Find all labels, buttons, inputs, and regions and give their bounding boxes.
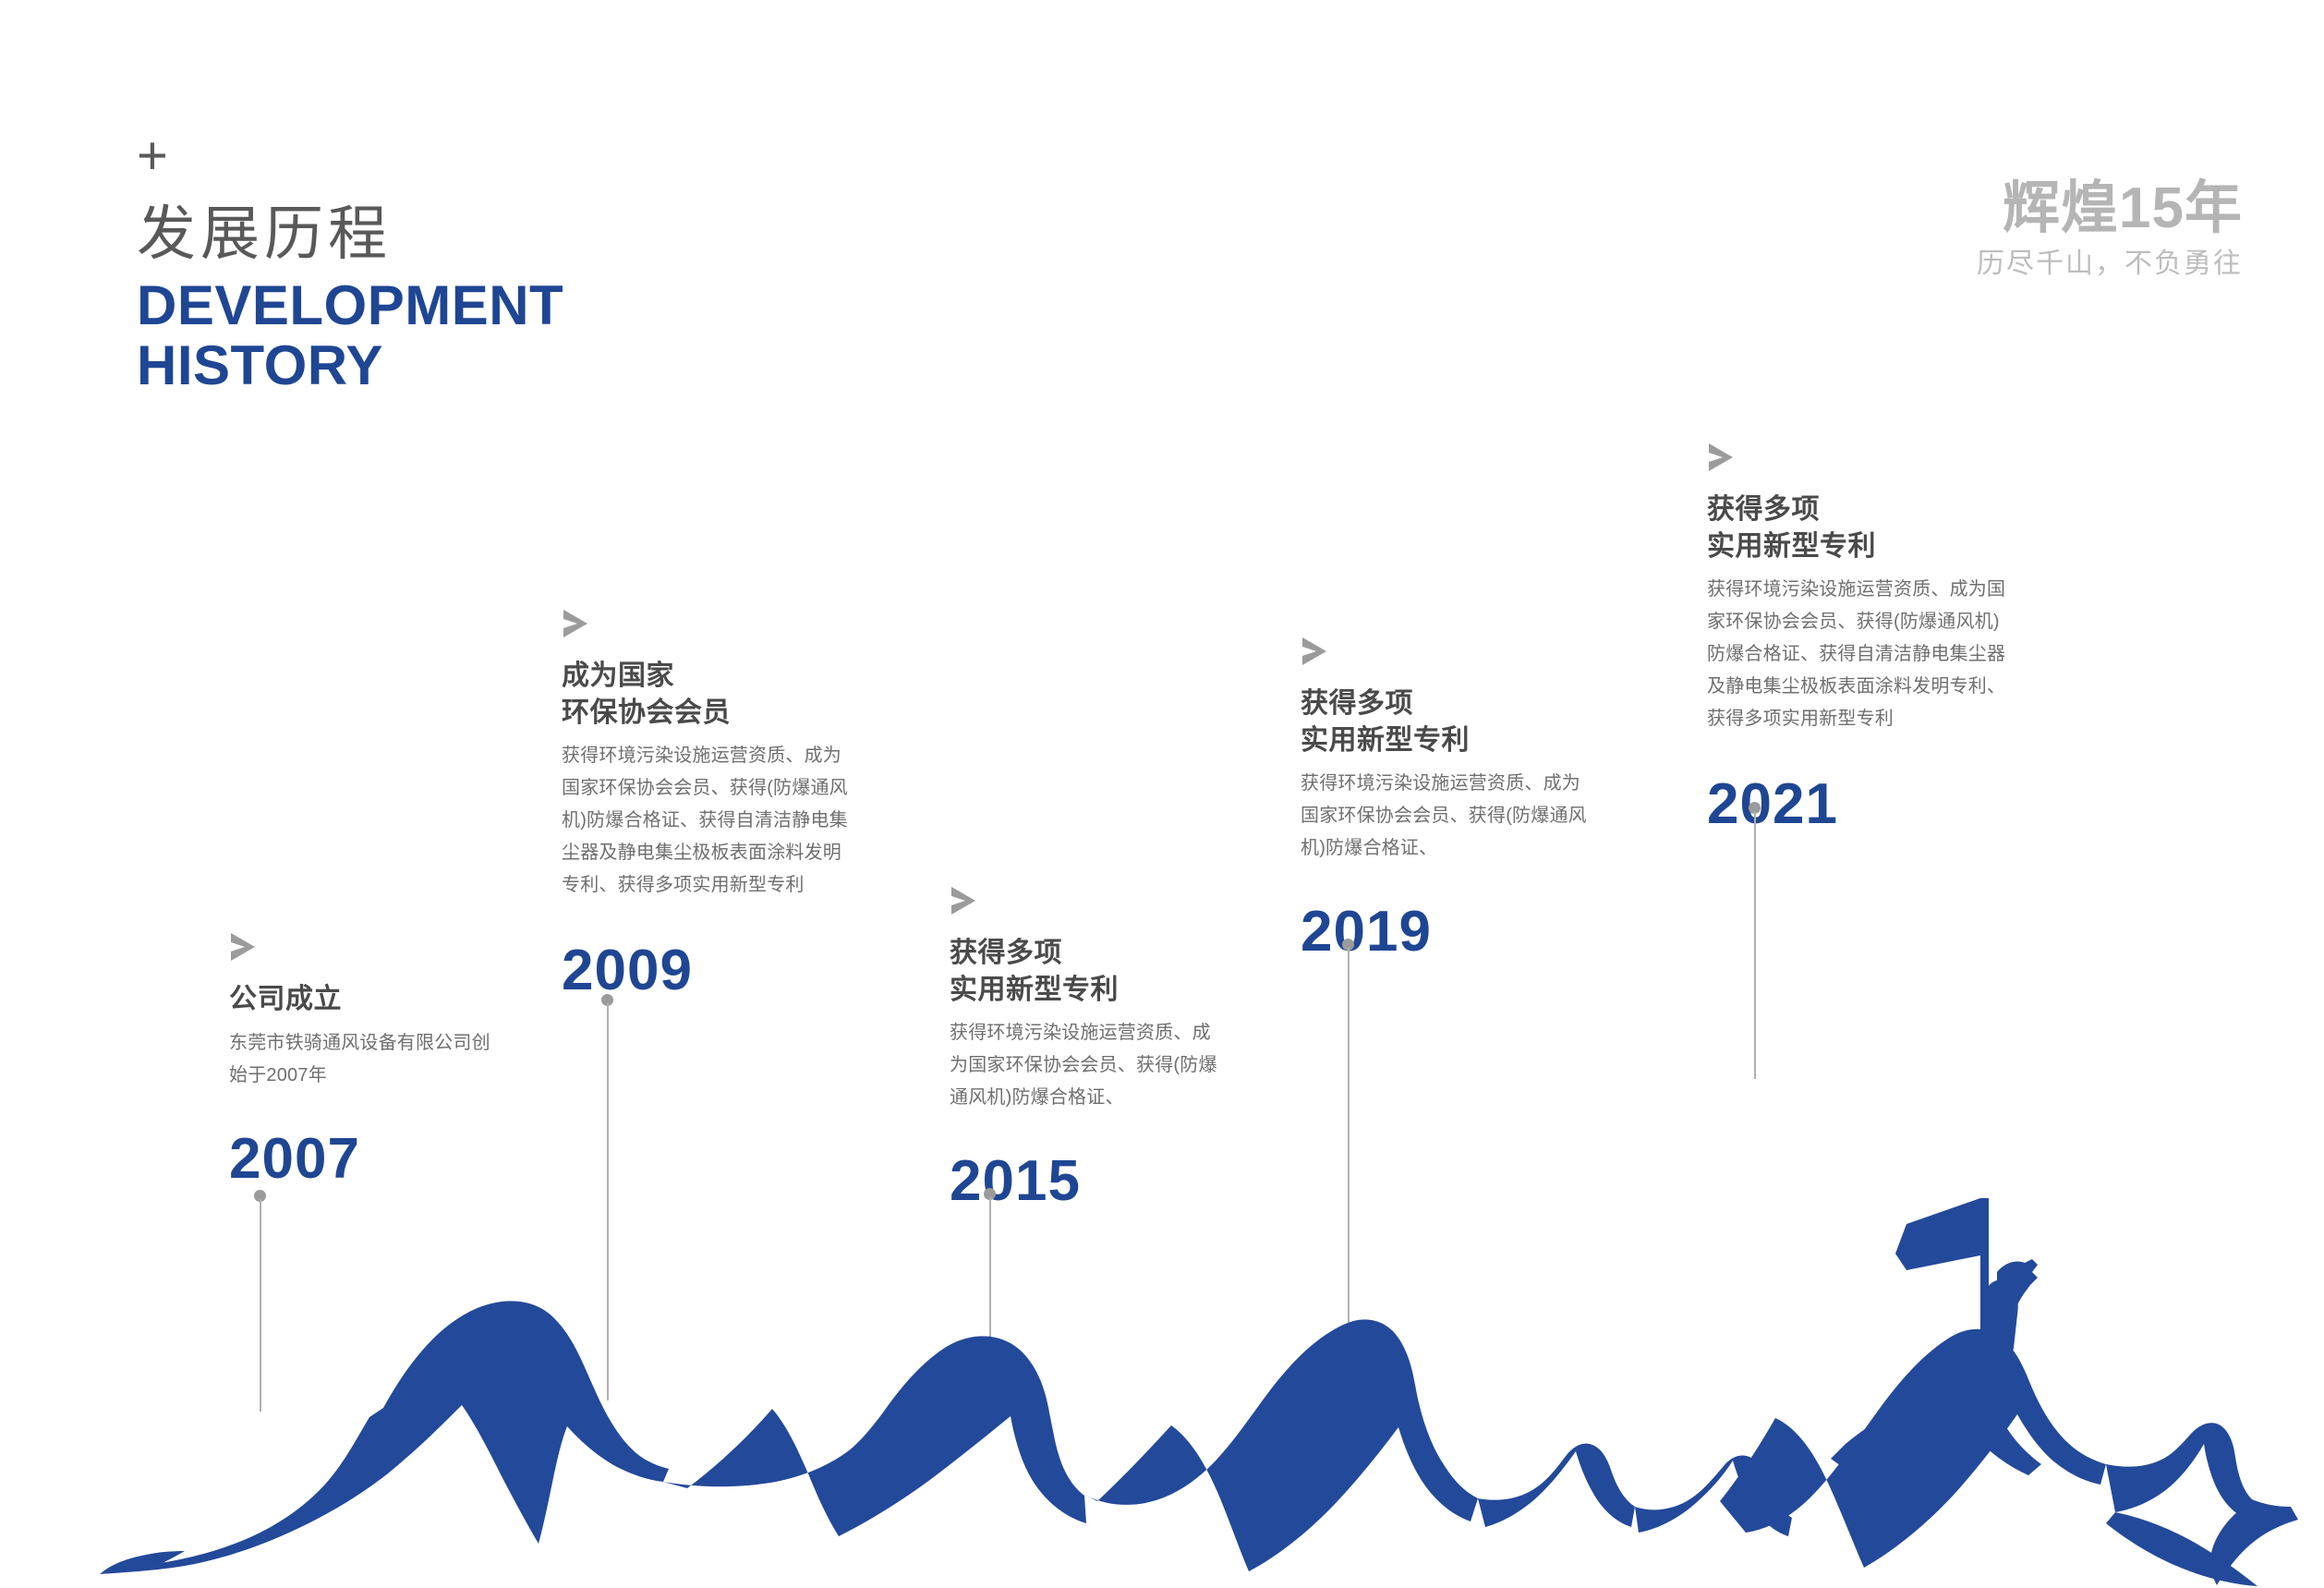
mountain-ridge bbox=[100, 1301, 2298, 1586]
slogan-main: 辉煌15年 bbox=[1977, 180, 2243, 237]
milestone-desc: 获得环境污染设施运营资质、成为国家环保协会会员、获得(防爆通风机)防爆合格证、获… bbox=[1707, 574, 2012, 735]
chevron-right-icon bbox=[1301, 636, 1328, 667]
milestone-desc: 获得环境污染设施运营资质、成为国家环保协会会员、获得(防爆通风机)防爆合格证、获… bbox=[562, 740, 857, 902]
milestone-2021[interactable]: 获得多项 实用新型专利 获得环境污染设施运营资质、成为国家环保协会会员、获得(防… bbox=[1707, 442, 2012, 833]
mountain-range-illustration bbox=[0, 886, 2324, 1588]
milestone-title: 获得多项 实用新型专利 bbox=[1707, 491, 2012, 564]
milestone-title: 成为国家 环保协会会员 bbox=[562, 658, 857, 731]
chevron-right-icon bbox=[562, 608, 589, 639]
milestone-desc: 获得环境污染设施运营资质、成为国家环保协会会员、获得(防爆通风机)防爆合格证、 bbox=[1301, 768, 1587, 865]
milestone-title: 获得多项 实用新型专利 bbox=[1301, 685, 1587, 758]
slogan-block: 辉煌15年 历尽千山，不负勇往 bbox=[1977, 180, 2243, 278]
slogan-sub: 历尽千山，不负勇往 bbox=[1977, 250, 2243, 278]
page-header: + 发展历程 DEVELOPMENT HISTORY bbox=[137, 129, 563, 396]
page-title-cn: 发展历程 bbox=[137, 203, 563, 265]
flag-icon bbox=[1895, 1198, 1980, 1270]
plus-icon: + bbox=[137, 129, 563, 183]
development-history-page: + 发展历程 DEVELOPMENT HISTORY 辉煌15年 历尽千山，不负… bbox=[0, 0, 2324, 1588]
page-title-en: DEVELOPMENT HISTORY bbox=[137, 276, 563, 396]
chevron-right-icon bbox=[1707, 442, 1735, 473]
